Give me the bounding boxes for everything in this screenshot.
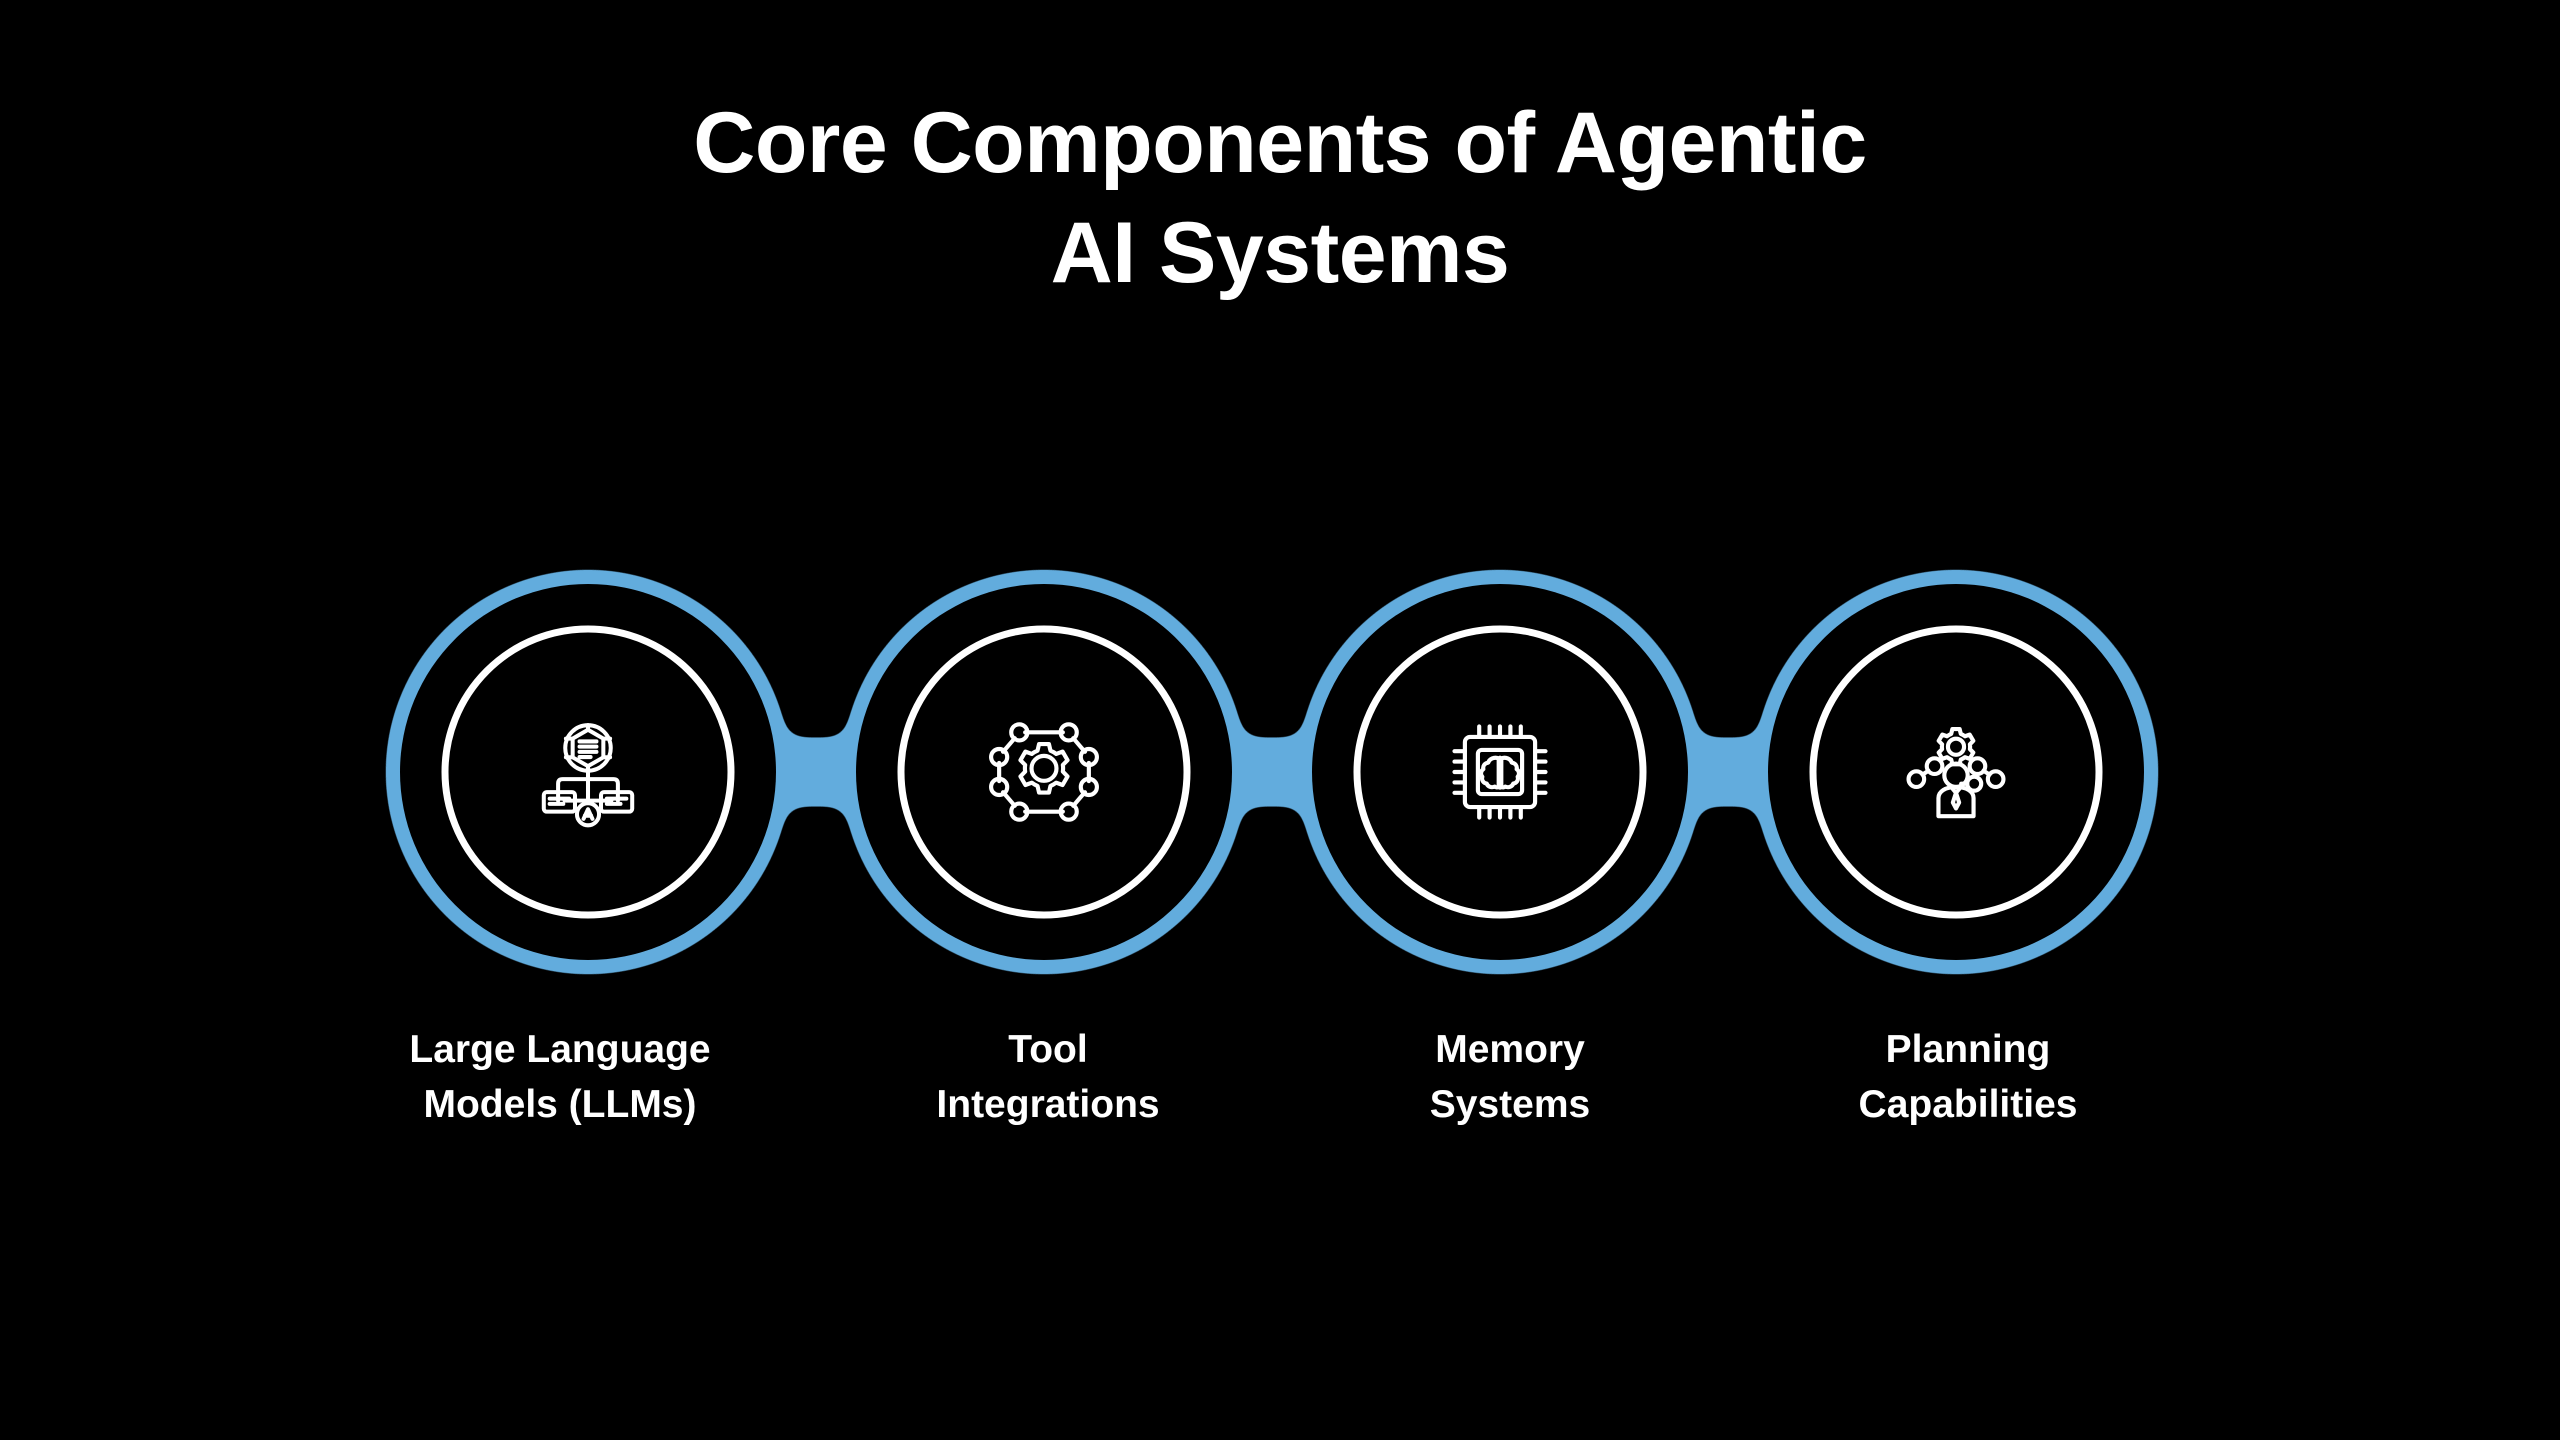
label-planning: Planning Capabilities <box>1748 1022 2188 1133</box>
title-line-2: AI Systems <box>0 198 2560 308</box>
chain-svg <box>360 540 2210 1010</box>
label-tools-line1: Tool <box>828 1022 1268 1077</box>
label-tools-line2: Integrations <box>828 1077 1268 1132</box>
label-memory-line2: Systems <box>1290 1077 1730 1132</box>
title-line-1: Core Components of Agentic <box>0 88 2560 198</box>
label-memory: Memory Systems <box>1290 1022 1730 1133</box>
label-planning-line1: Planning <box>1748 1022 2188 1077</box>
label-llm: Large Language Models (LLMs) <box>340 1022 780 1133</box>
page-title: Core Components of Agentic AI Systems <box>0 88 2560 308</box>
label-memory-line1: Memory <box>1290 1022 1730 1077</box>
component-labels: Large Language Models (LLMs) Tool Integr… <box>0 1022 2560 1182</box>
label-tools: Tool Integrations <box>828 1022 1268 1133</box>
label-llm-line1: Large Language <box>340 1022 780 1077</box>
slide-canvas: Core Components of Agentic AI Systems <box>0 0 2560 1440</box>
label-planning-line2: Capabilities <box>1748 1077 2188 1132</box>
label-llm-line2: Models (LLMs) <box>340 1077 780 1132</box>
component-chain <box>360 540 2210 1010</box>
